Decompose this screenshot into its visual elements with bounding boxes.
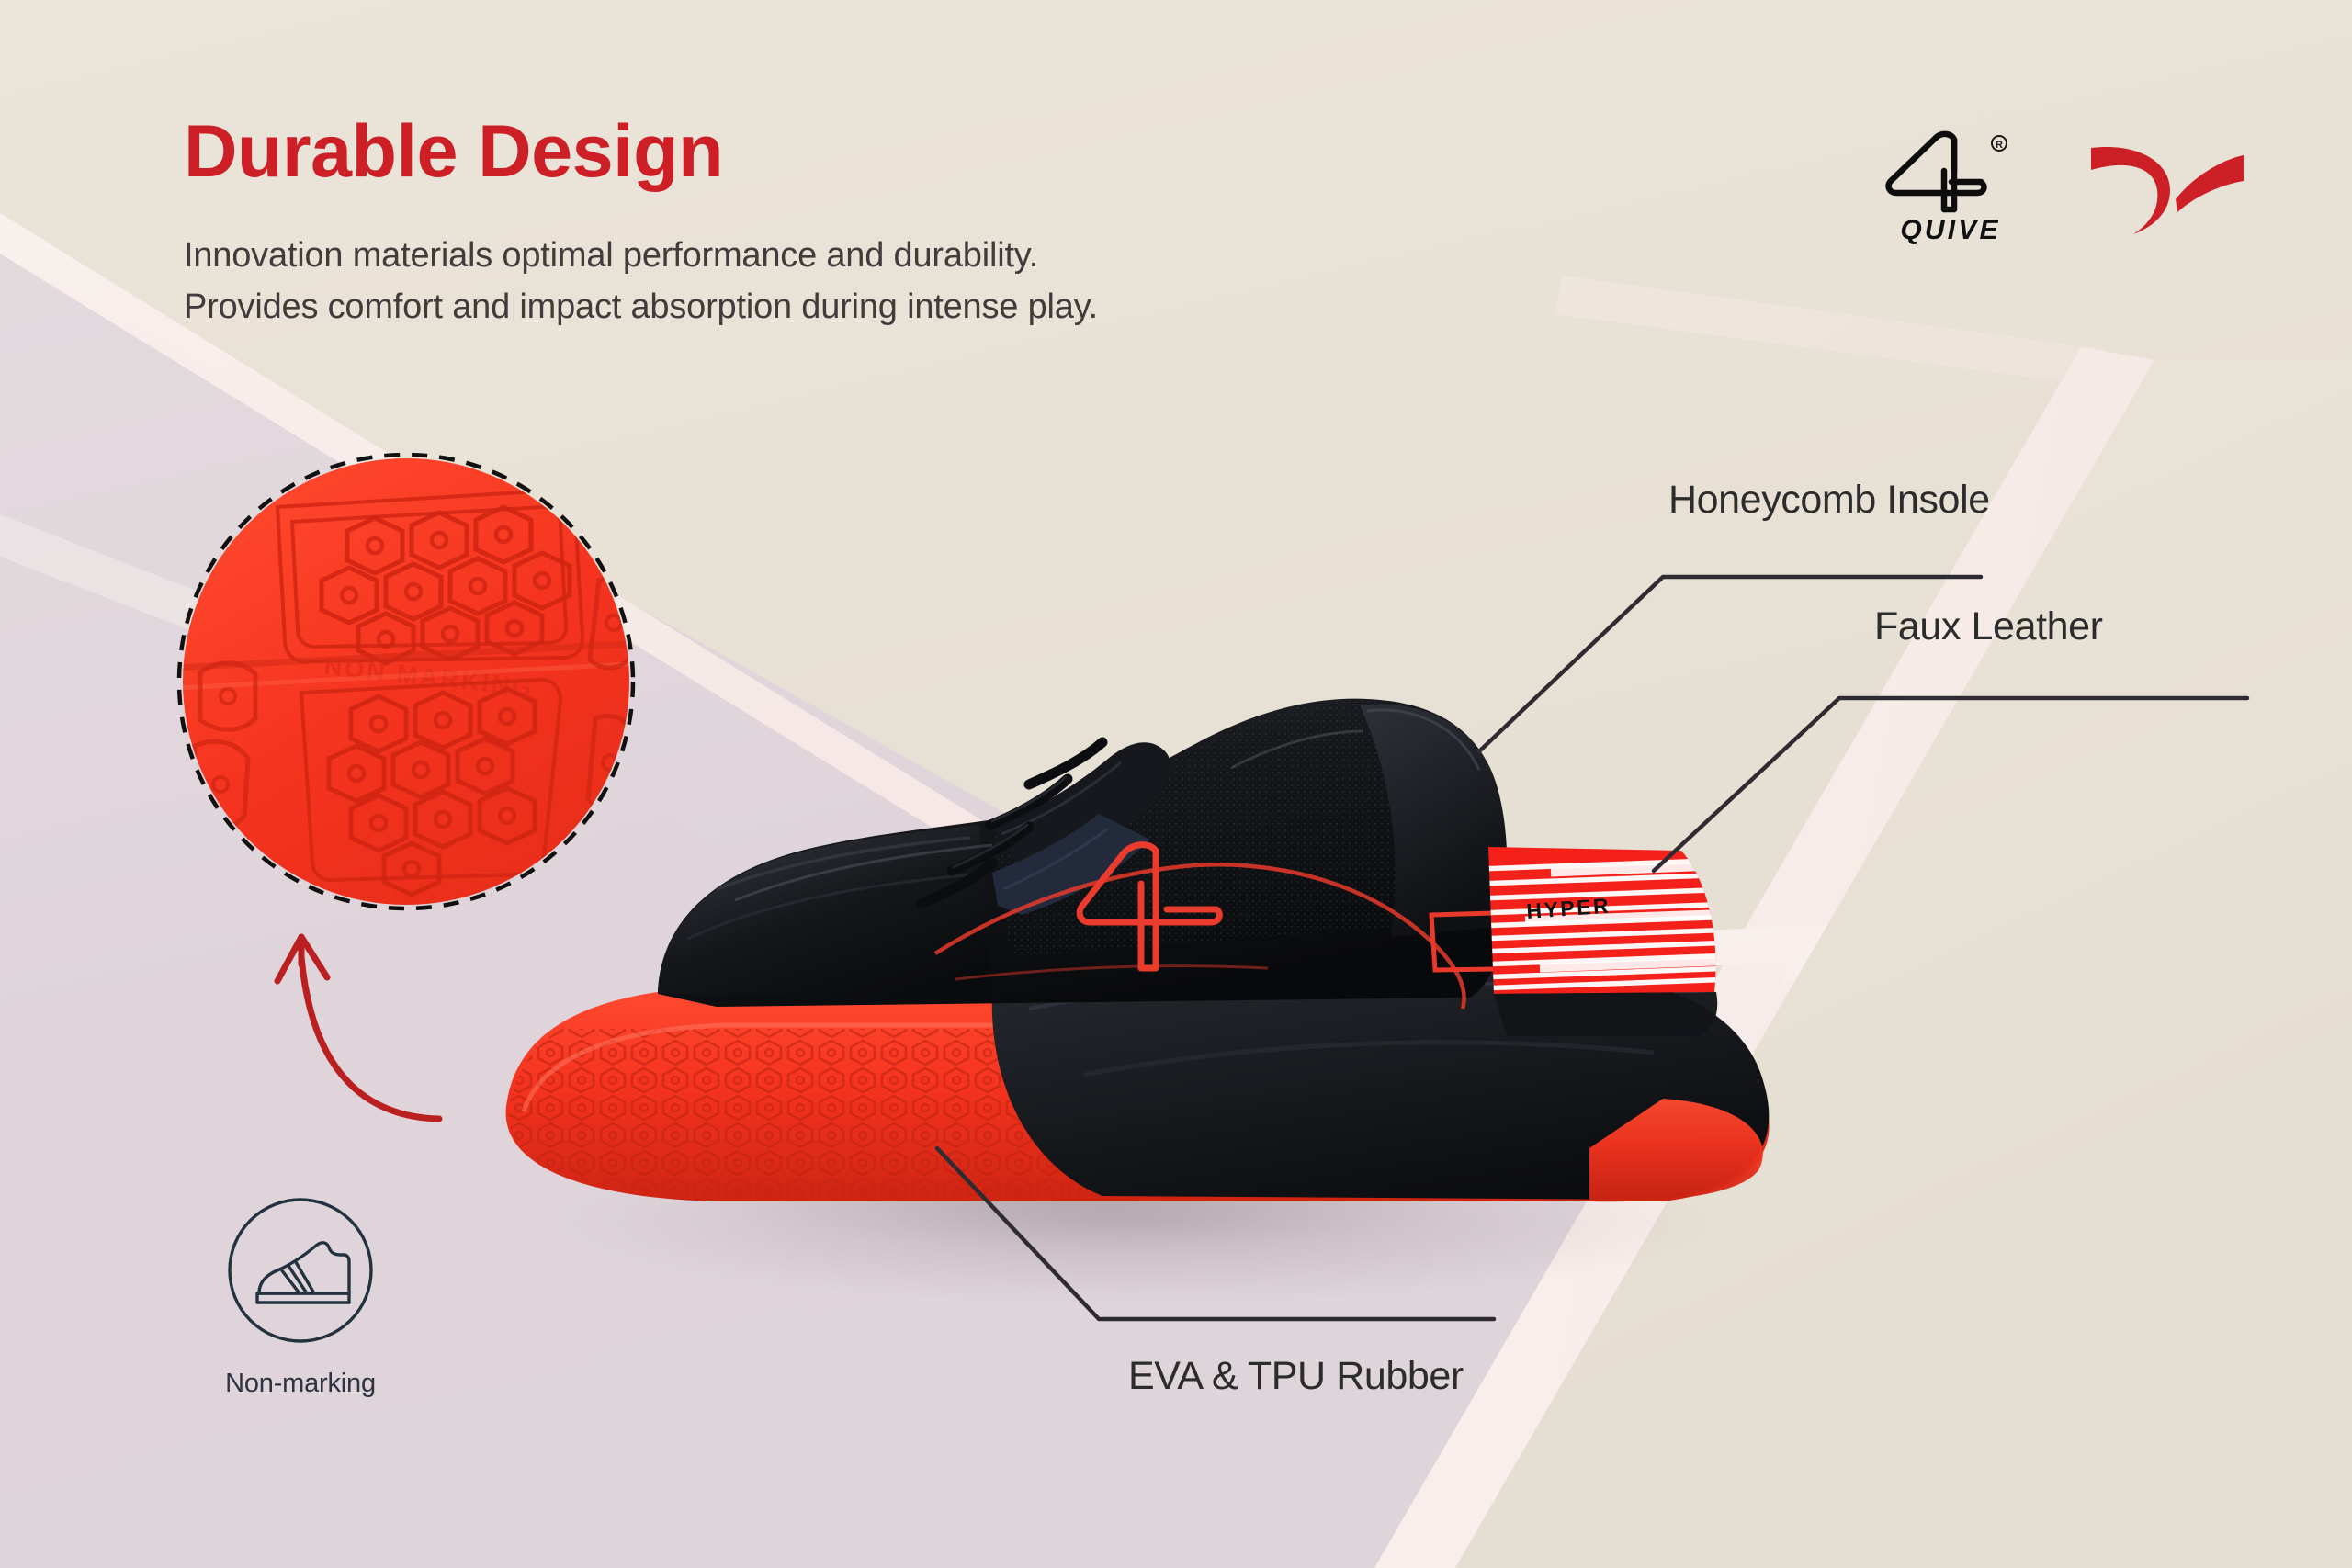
callout-faux-leather: Faux Leather bbox=[1874, 604, 2103, 649]
tread-closeup: NON MARKING bbox=[167, 443, 645, 920]
subtitle-line-2: Provides comfort and impact absorption d… bbox=[184, 281, 1746, 333]
callout-label-eva: EVA & TPU Rubber bbox=[1128, 1354, 1464, 1398]
subtitle-line-1: Innovation materials optimal performance… bbox=[184, 230, 1746, 281]
svg-text:R: R bbox=[1996, 140, 2003, 151]
callout-honeycomb-insole: Honeycomb Insole bbox=[1668, 478, 1990, 523]
infographic-stage: Durable Design Innovation materials opti… bbox=[0, 0, 2352, 1568]
product-shoe-image: HYPER bbox=[441, 597, 1929, 1295]
page-subtitle: Innovation materials optimal performance… bbox=[184, 230, 1746, 333]
non-marking-badge: Non-marking bbox=[204, 1194, 397, 1399]
quive-logo: R QUIVE bbox=[1882, 129, 2019, 246]
non-marking-label: Non-marking bbox=[225, 1369, 376, 1399]
callout-label-faux: Faux Leather bbox=[1874, 604, 2103, 649]
quive-wordmark: QUIVE bbox=[1900, 215, 2000, 246]
shoe-outline-icon bbox=[224, 1194, 377, 1347]
header-block: Durable Design Innovation materials opti… bbox=[184, 115, 1746, 333]
heel-hyper-panel bbox=[1479, 836, 1736, 1010]
outsole-zoom-inset: NON MARKING bbox=[167, 443, 645, 920]
page-title: Durable Design bbox=[184, 115, 1746, 189]
zoom-inset-svg: NON MARKING bbox=[167, 443, 645, 920]
callout-label-honeycomb: Honeycomb Insole bbox=[1668, 478, 1990, 522]
brand-logo-bar: R QUIVE bbox=[1882, 129, 2246, 246]
shoe-svg: HYPER bbox=[441, 597, 1929, 1295]
quive-four-icon: R bbox=[1882, 129, 2019, 213]
zoom-pointer-arrow bbox=[230, 900, 579, 1167]
callout-eva-tpu-rubber: EVA & TPU Rubber bbox=[1128, 1354, 1464, 1399]
swoosh-logo-icon bbox=[2086, 137, 2246, 238]
